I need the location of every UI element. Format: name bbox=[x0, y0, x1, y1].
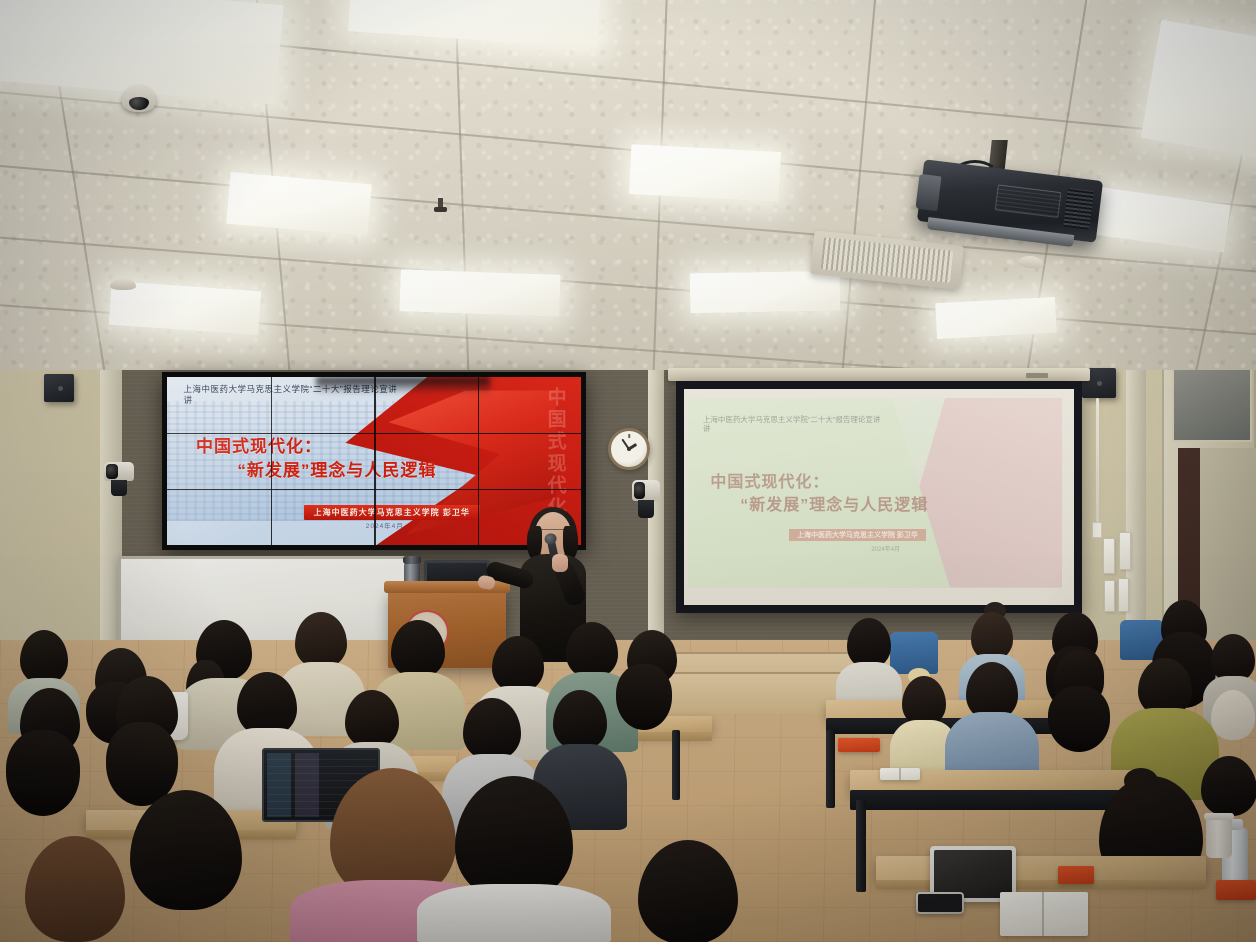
pull-cord-tag bbox=[1092, 522, 1102, 538]
student bbox=[0, 688, 100, 828]
student-head bbox=[463, 698, 521, 760]
led-top-glare bbox=[316, 377, 490, 394]
window-pull-cord bbox=[1096, 398, 1099, 526]
projected-slide: 上海中医药大学马克思主义学院“二十大”报告理论宣讲 讲 中国式现代化： “新发展… bbox=[688, 398, 1062, 588]
wall-clock-icon bbox=[608, 428, 650, 470]
student-head bbox=[237, 672, 297, 736]
desk-leg bbox=[826, 730, 835, 808]
projected-header-wrap: 讲 bbox=[703, 424, 973, 434]
smoke-detector-icon bbox=[110, 278, 136, 290]
phone[interactable] bbox=[916, 892, 964, 914]
slide-header-wrap: 讲 bbox=[184, 395, 490, 406]
ceiling-dome-camera-icon bbox=[122, 86, 156, 112]
door-transom-window bbox=[1172, 366, 1252, 442]
student-head bbox=[902, 676, 946, 726]
open-notebook bbox=[1000, 892, 1088, 936]
projected-date-text: 2024年4月 bbox=[871, 544, 900, 553]
slide-title-line1: 中国式现代化： bbox=[196, 432, 322, 457]
projection-screen[interactable]: 上海中医药大学马克思主义学院“二十大”报告理论宣讲 讲 中国式现代化： “新发展… bbox=[676, 381, 1082, 613]
student-head bbox=[847, 618, 891, 668]
student-hair-bun bbox=[1124, 768, 1158, 794]
student-head bbox=[455, 776, 573, 900]
student-head bbox=[553, 690, 607, 750]
student-head bbox=[345, 690, 399, 748]
projected-title-line1: 中国式现代化： bbox=[710, 468, 829, 492]
slide-vertical-text: 中国式现代化 bbox=[542, 387, 569, 519]
wall-paper-note bbox=[1103, 538, 1115, 574]
wall-paper-note bbox=[1119, 532, 1131, 570]
red-book bbox=[1058, 866, 1094, 884]
projection-screen-surface: 上海中医药大学马克思主义学院“二十大”报告理论宣讲 讲 中国式现代化： “新发展… bbox=[684, 389, 1074, 605]
ceiling-light-panel bbox=[629, 144, 781, 202]
student-head bbox=[971, 612, 1013, 660]
wall-camera-center-icon bbox=[632, 480, 660, 518]
red-book bbox=[838, 738, 880, 752]
slide-title-line2: “新发展”理念与人民逻辑 bbox=[237, 456, 436, 481]
desk bbox=[876, 856, 1206, 882]
wall-paper-note bbox=[1104, 580, 1115, 612]
projected-title-line2: “新发展”理念与人民逻辑 bbox=[740, 491, 928, 515]
student-head bbox=[1201, 756, 1256, 816]
lecture-hall-photo: 中国式现代化 上海中医药大学马克思主义学院“二十大”报告理论宣讲 讲 中国式现代… bbox=[0, 0, 1256, 942]
projected-header-text: 上海中医药大学马克思主义学院“二十大”报告理论宣讲 bbox=[703, 415, 973, 425]
fire-sprinkler-icon bbox=[434, 198, 447, 218]
projector-vents bbox=[1063, 188, 1093, 229]
student-long-hair bbox=[6, 730, 80, 816]
projector-control-panel bbox=[994, 184, 1061, 218]
student bbox=[416, 776, 612, 942]
projected-credit-bar: 上海中医药大学马克思主义学院 彭卫华 bbox=[789, 529, 926, 541]
ceiling-light-panel bbox=[935, 297, 1057, 339]
tablet-screen bbox=[934, 850, 1012, 898]
presenter-right-hand bbox=[552, 554, 568, 572]
phone-screen bbox=[918, 894, 962, 912]
paper-cup bbox=[1206, 818, 1232, 858]
notebook bbox=[880, 768, 920, 780]
student-head bbox=[295, 612, 347, 668]
student-head bbox=[638, 840, 738, 942]
slide-date-text: 2024年4月 bbox=[366, 520, 404, 530]
projector-lens-housing bbox=[915, 174, 941, 211]
student-head bbox=[20, 630, 68, 684]
student-head bbox=[1211, 690, 1255, 740]
student bbox=[0, 836, 150, 942]
red-book bbox=[1216, 880, 1256, 900]
student-long-hair bbox=[1048, 686, 1110, 752]
ceiling-light-panel bbox=[399, 269, 560, 317]
wall-camera-left-icon bbox=[104, 462, 134, 496]
wall-paper-note bbox=[1118, 578, 1129, 612]
desk-leg bbox=[856, 800, 866, 892]
student-shoulders bbox=[417, 884, 611, 942]
student-head bbox=[391, 620, 445, 678]
student-head bbox=[492, 636, 544, 692]
ceiling-light-panel bbox=[690, 271, 841, 314]
projection-screen-housing bbox=[668, 368, 1090, 381]
ceiling-light-panel bbox=[1141, 20, 1256, 161]
student bbox=[608, 840, 768, 942]
wall-speaker-left-icon bbox=[44, 374, 74, 402]
slide-credit-bar: 上海中医药大学马克思主义学院 彭卫华 bbox=[304, 505, 480, 520]
desk-edge bbox=[876, 880, 1206, 889]
student-head bbox=[25, 836, 125, 942]
